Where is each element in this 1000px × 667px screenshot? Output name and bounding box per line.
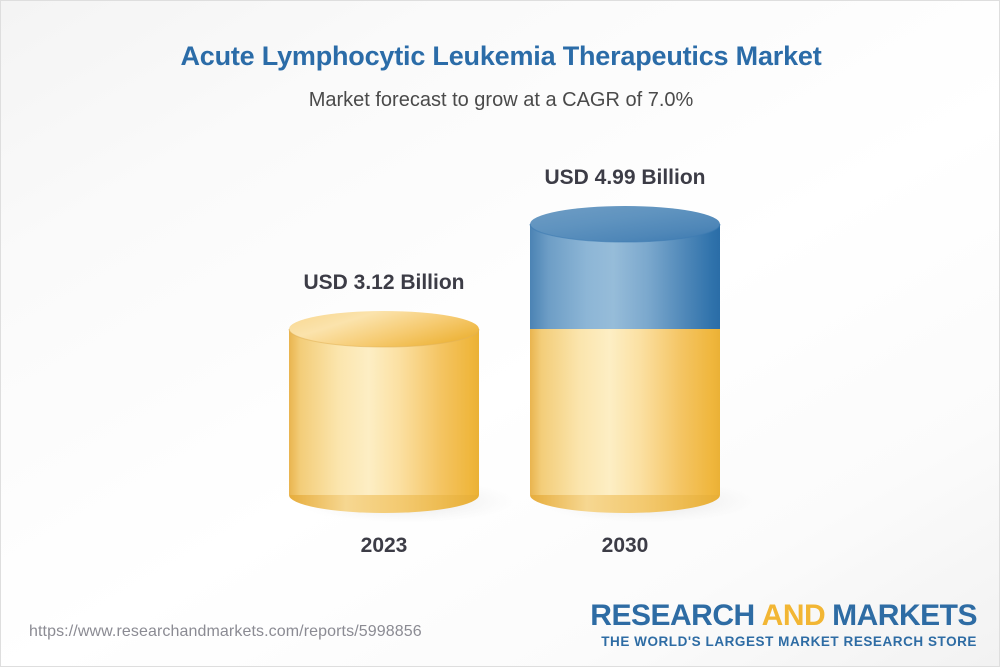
bar-2023-body <box>289 329 479 495</box>
category-label-2030: 2030 <box>525 534 725 558</box>
value-label-2023: USD 3.12 Billion <box>284 271 484 295</box>
value-label-2030: USD 4.99 Billion <box>525 166 725 190</box>
research-and-markets-logo[interactable]: RESEARCHANDMARKETS THE WORLD'S LARGEST M… <box>590 601 977 649</box>
logo-word-research: RESEARCH <box>590 599 754 632</box>
infographic-canvas: Acute Lymphocytic Leukemia Therapeutics … <box>0 0 1000 667</box>
bar-2023[interactable] <box>289 311 513 523</box>
bar-2030-gold-segment <box>530 329 720 495</box>
logo-wordmark: RESEARCHANDMARKETS <box>590 601 977 632</box>
source-url[interactable]: https://www.researchandmarkets.com/repor… <box>29 623 422 641</box>
bar-2030[interactable] <box>530 206 754 523</box>
logo-tagline: THE WORLD'S LARGEST MARKET RESEARCH STOR… <box>590 635 977 650</box>
chart-svg <box>1 1 1000 601</box>
category-label-2023: 2023 <box>284 534 484 558</box>
logo-word-and: AND <box>762 599 826 632</box>
logo-word-markets: MARKETS <box>832 599 977 632</box>
bar-chart: USD 3.12 Billion USD 4.99 Billion 2023 2… <box>1 1 1000 601</box>
